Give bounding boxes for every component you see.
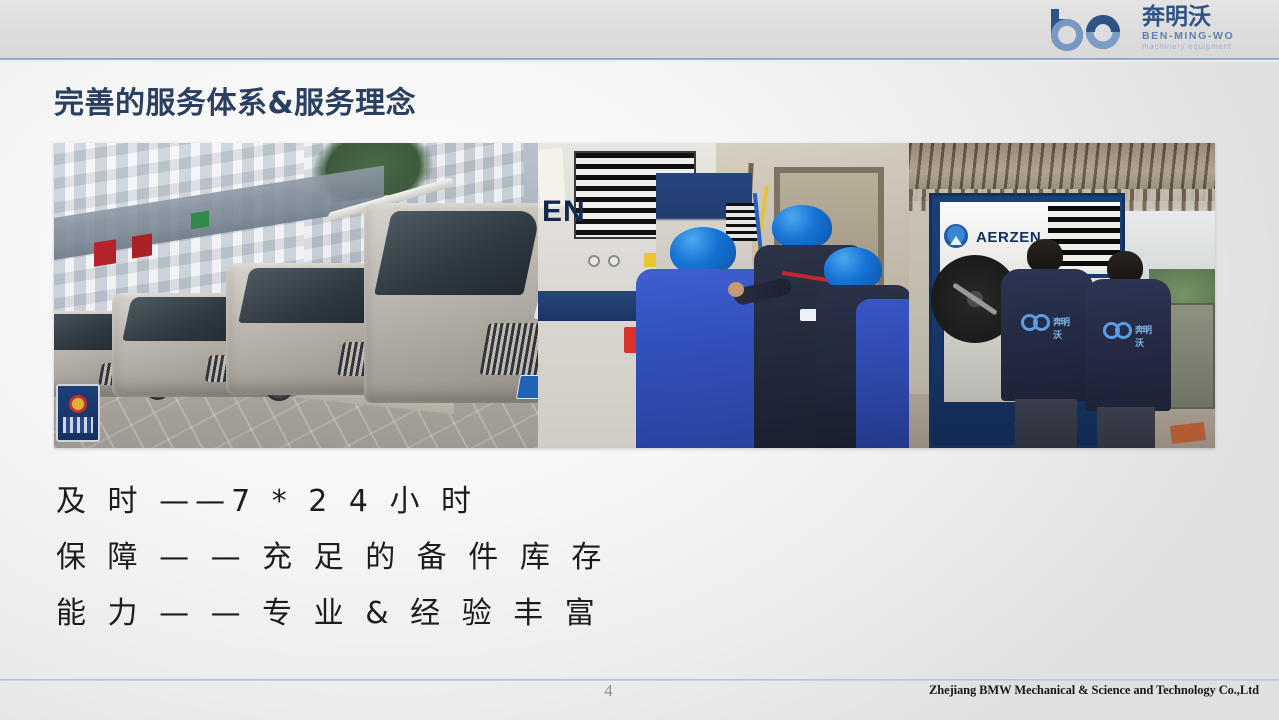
photo-technicians-servicing-compressor: EN: [538, 143, 909, 448]
technician-blue-uniform: [856, 299, 909, 448]
photo-fleet-of-service-vehicles: G·382P8: [54, 143, 538, 448]
jacket-logo-text: 奔明沃: [1053, 315, 1073, 341]
jacket-bo-logo-icon: 奔明沃: [1103, 321, 1155, 341]
hard-hat-icon: [772, 205, 832, 249]
control-knob: [608, 255, 620, 267]
service-principle-line: 保 障 — — 充 足 的 备 件 库 存: [56, 530, 607, 586]
jacket-bo-logo-icon: 奔明沃: [1021, 313, 1073, 333]
technician-head: [1027, 239, 1063, 273]
control-knob: [588, 255, 600, 267]
service-principle-line: 能 力 — — 专 业 & 经 验 丰 富: [56, 586, 607, 642]
logo-tagline: machinery equipment: [1142, 42, 1234, 52]
logo-text-block: 奔明沃 BEN-MING-WO machinery equipment: [1142, 5, 1234, 52]
header-divider: [0, 57, 1279, 60]
photo-strip: G·382P8 EN: [54, 143, 1215, 448]
parked-car-foreground: G·382P8: [364, 203, 538, 403]
aerzen-logo-icon: [944, 224, 968, 248]
logo-english-name: BEN-MING-WO: [1142, 30, 1234, 42]
bo-logo-icon: [1045, 5, 1137, 53]
equipment-brand-text: EN: [542, 195, 586, 229]
service-principles-list: 及 时 ——7 * 2 4 小 时 保 障 — — 充 足 的 备 件 库 存 …: [56, 474, 607, 642]
second-compressor-louver: [726, 203, 758, 241]
page-title: 完善的服务体系&服务理念: [54, 78, 416, 122]
footer-company-name: Zhejiang BMW Mechanical & Science and Te…: [929, 683, 1259, 698]
logo-chinese-name: 奔明沃: [1142, 6, 1234, 29]
company-logo: 奔明沃 BEN-MING-WO machinery equipment: [1045, 2, 1265, 55]
technician-legs: [1015, 399, 1077, 448]
license-plate: G·382P8: [515, 375, 538, 399]
jacket-logo-text: 奔明沃: [1135, 323, 1155, 349]
technician-hand: [728, 282, 744, 297]
technician-jacket: [1085, 279, 1171, 411]
information-stand: [56, 384, 100, 442]
technician-jacket: [1001, 269, 1093, 401]
photo-technicians-at-aerzen-blower: AERZEN 奔明沃 奔明沃: [909, 143, 1215, 448]
red-shop-sign: [94, 239, 116, 266]
hard-hat-icon: [670, 227, 736, 275]
red-shop-sign: [132, 233, 152, 258]
green-shop-sign: [191, 211, 209, 230]
technician-legs: [1097, 407, 1155, 448]
service-principle-line: 及 时 ——7 * 2 4 小 时: [56, 474, 607, 530]
